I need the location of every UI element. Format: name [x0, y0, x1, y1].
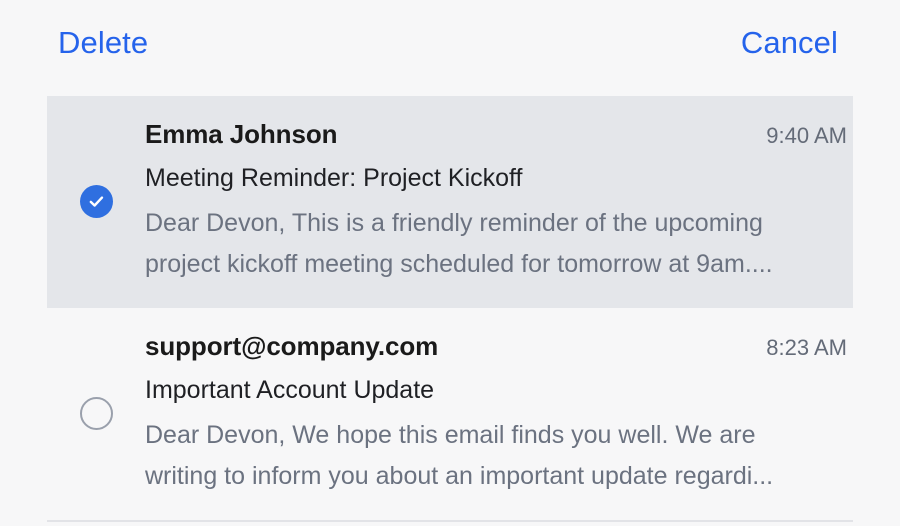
email-subject: Important Account Update [145, 374, 847, 407]
list-divider [47, 520, 853, 522]
email-content: Emma Johnson 9:40 AM Meeting Reminder: P… [145, 118, 853, 284]
email-header-line: Emma Johnson 9:40 AM [145, 118, 847, 151]
email-timestamp: 8:23 AM [766, 334, 847, 362]
email-preview: Dear Devon, This is a friendly reminder … [145, 203, 805, 284]
email-sender: Emma Johnson [145, 118, 337, 151]
email-sender: support@company.com [145, 330, 438, 363]
email-list-item[interactable]: Emma Johnson 9:40 AM Meeting Reminder: P… [47, 96, 853, 308]
email-subject: Meeting Reminder: Project Kickoff [145, 162, 847, 195]
email-content: support@company.com 8:23 AM Important Ac… [145, 330, 853, 496]
selection-action-bar: Delete Cancel [0, 0, 900, 84]
circle-outline-icon[interactable] [80, 397, 113, 430]
email-header-line: support@company.com 8:23 AM [145, 330, 847, 363]
email-list-item[interactable]: support@company.com 8:23 AM Important Ac… [47, 308, 853, 520]
cancel-button[interactable]: Cancel [741, 27, 838, 58]
delete-button[interactable]: Delete [58, 27, 148, 58]
select-column [47, 330, 145, 496]
check-circle-filled-icon[interactable] [80, 185, 113, 218]
email-list: Emma Johnson 9:40 AM Meeting Reminder: P… [0, 96, 900, 522]
email-preview: Dear Devon, We hope this email finds you… [145, 415, 805, 496]
select-column [47, 118, 145, 284]
email-timestamp: 9:40 AM [766, 122, 847, 150]
